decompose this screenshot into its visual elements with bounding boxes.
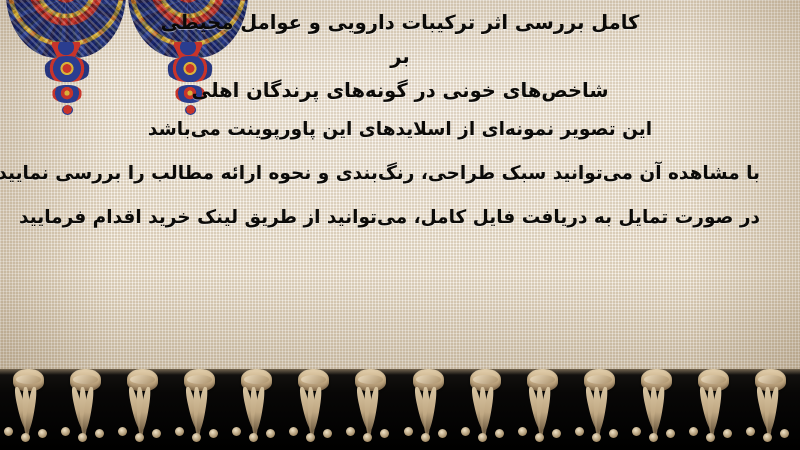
fringe-tassel [572,369,628,447]
tassel-tip [4,427,13,436]
slide-title-line-1: کامل بررسی اثر ترکیبات دارویی و عوامل مح… [150,6,650,74]
tassel-tip [746,427,755,436]
tassel-tip [249,433,258,442]
tassel-tip [592,433,601,442]
tassel-tip [518,427,527,436]
tassel-tip [61,427,70,436]
tassel-tip [535,433,544,442]
fringe-tassel [58,369,114,447]
tassel-tip [780,429,789,438]
tassel-tip [649,433,658,442]
fringe-tassel [286,369,342,447]
carpet-fringe-tassels [0,369,800,450]
fringe-tassel [343,369,399,447]
slide-body-line-1: این تصویر نمونه‌ای از اسلایدهای این پاور… [40,108,760,152]
tassel-tip [232,427,241,436]
tassel-tip [135,433,144,442]
slide-title-line-2: شاخص‌های خونی در گونه‌های پرندگان اهلی [150,74,650,108]
tassel-tip [609,429,618,438]
tassel-tip [478,433,487,442]
tassel-tip [689,427,698,436]
fringe-tassel [229,369,285,447]
tassel-tip [266,429,275,438]
tassel-tip [363,433,372,442]
slide-title: کامل بررسی اثر ترکیبات دارویی و عوامل مح… [0,6,800,108]
slide-content: کامل بررسی اثر ترکیبات دارویی و عوامل مح… [0,0,800,378]
tassel-tip [723,429,732,438]
tassel-tip [209,429,218,438]
tassel-tip [38,429,47,438]
tassel-tip [192,433,201,442]
tassel-tip [118,427,127,436]
tassel-tip [461,427,470,436]
tassel-tip [175,427,184,436]
tassel-tip [289,427,298,436]
tassel-tip [346,427,355,436]
tassel-tip [21,433,30,442]
presentation-slide: کامل بررسی اثر ترکیبات دارویی و عوامل مح… [0,0,800,450]
tassel-tip [495,429,504,438]
fringe-tassel [458,369,514,447]
fringe-tassel [686,369,742,447]
tassel-tip [632,427,641,436]
tassel-tip [380,429,389,438]
tassel-tip [95,429,104,438]
fringe-tassel [401,369,457,447]
tassel-tip [666,429,675,438]
fringe-tassel [743,369,799,447]
tassel-tip [438,429,447,438]
fringe-tassel [172,369,228,447]
tassel-tip [323,429,332,438]
fringe-tassel [629,369,685,447]
slide-body-line-3: در صورت تمایل به دریافت فایل کامل، می‌تو… [40,196,760,240]
tassel-tip [421,433,430,442]
tassel-tip [152,429,161,438]
tassel-tip [575,427,584,436]
tassel-tip [706,433,715,442]
fringe-tassel [1,369,57,447]
fringe-tassel [115,369,171,447]
slide-body-line-2: با مشاهده آن می‌توانید سبک طراحی، رنگ‌بن… [40,152,760,196]
tassel-tip [763,433,772,442]
slide-body-text: این تصویر نمونه‌ای از اسلایدهای این پاور… [0,108,800,240]
tassel-tip [552,429,561,438]
fringe-tassel [515,369,571,447]
tassel-tip [404,427,413,436]
tassel-tip [78,433,87,442]
tassel-tip [306,433,315,442]
